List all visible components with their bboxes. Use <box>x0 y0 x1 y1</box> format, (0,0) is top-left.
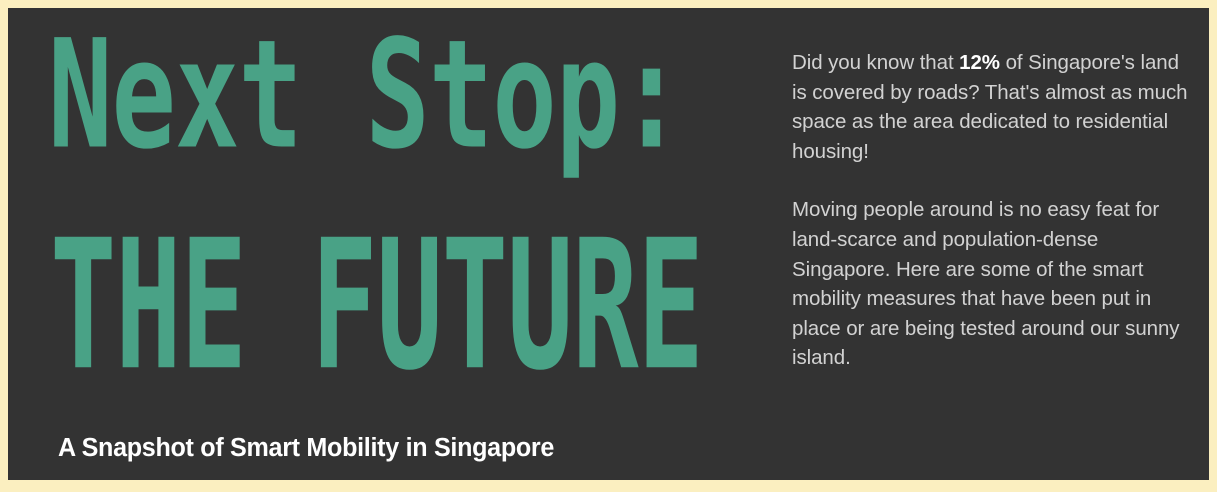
hero-title-line-1: Next Stop: <box>48 20 683 170</box>
hero-subtitle: A Snapshot of Smart Mobility in Singapor… <box>58 434 554 463</box>
hero-title-block: Next Stop: THE FUTURE A Snapshot of Smar… <box>42 8 772 480</box>
intro-text-before-stat: Did you know that <box>792 51 959 74</box>
intro-paragraph: Did you know that 12% of Singapore's lan… <box>792 48 1198 166</box>
context-paragraph: Moving people around is no easy feat for… <box>792 195 1198 373</box>
hero-title-line-2: THE FUTURE <box>50 216 703 395</box>
copy-column: Did you know that 12% of Singapore's lan… <box>792 48 1198 373</box>
infographic-banner: Next Stop: THE FUTURE A Snapshot of Smar… <box>0 0 1217 492</box>
road-coverage-stat: 12% <box>959 51 1000 74</box>
banner-panel: Next Stop: THE FUTURE A Snapshot of Smar… <box>8 8 1209 480</box>
